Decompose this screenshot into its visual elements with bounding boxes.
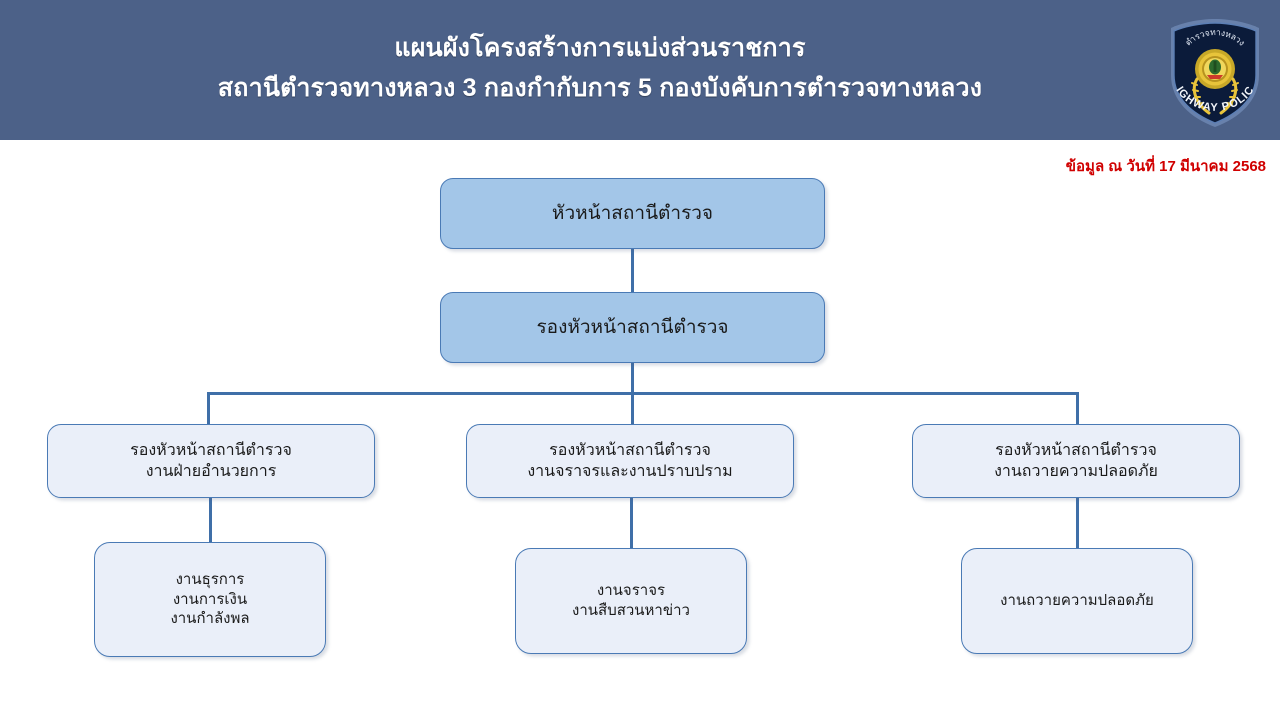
node-deputy-administration-label: รองหัวหน้าสถานีตำรวจ งานฝ่ายอำนวยการ xyxy=(130,440,292,482)
node-deputy-traffic-and-suppression[interactable]: รองหัวหน้าสถานีตำรวจ งานจราจรและงานปราบป… xyxy=(466,424,794,498)
connector-royal-to-tasks xyxy=(1076,498,1079,548)
node-traffic-tasks[interactable]: งานจราจร งานสืบสวนหาข่าว xyxy=(515,548,747,654)
node-chief-of-station-label: หัวหน้าสถานีตำรวจ xyxy=(552,201,713,226)
connector-admin-to-tasks xyxy=(209,498,212,542)
connector-bus-drop-admin xyxy=(207,392,210,424)
node-administration-tasks[interactable]: งานธุรการ งานการเงิน งานกำลังพล xyxy=(94,542,326,657)
node-deputy-royal-security-label: รองหัวหน้าสถานีตำรวจ งานถวายความปลอดภัย xyxy=(994,440,1158,482)
node-deputy-chief-of-station-label: รองหัวหน้าสถานีตำรวจ xyxy=(536,315,728,340)
node-deputy-traffic-and-suppression-label: รองหัวหน้าสถานีตำรวจ งานจราจรและงานปราบป… xyxy=(527,440,732,482)
node-royal-security-tasks-label: งานถวายความปลอดภัย xyxy=(1000,591,1154,611)
connector-chief-to-deputy xyxy=(631,249,634,292)
page-title-line-2: สถานีตำรวจทางหลวง 3 กองกำกับการ 5 กองบัง… xyxy=(60,68,1140,108)
connector-level3-bus xyxy=(207,392,1079,395)
connector-deputy-trunk xyxy=(631,363,634,393)
org-chart-canvas: หัวหน้าสถานีตำรวจ รองหัวหน้าสถานีตำรวจ ร… xyxy=(0,140,1280,720)
connector-bus-drop-royal xyxy=(1076,392,1079,424)
node-deputy-chief-of-station[interactable]: รองหัวหน้าสถานีตำรวจ xyxy=(440,292,825,363)
page-title-line-1: แผนผังโครงสร้างการแบ่งส่วนราชการ xyxy=(60,28,1140,68)
connector-bus-drop-traffic xyxy=(631,392,634,424)
node-administration-tasks-label: งานธุรการ งานการเงิน งานกำลังพล xyxy=(170,570,249,629)
org-chart-page: แผนผังโครงสร้างการแบ่งส่วนราชการ สถานีตำ… xyxy=(0,0,1280,720)
node-traffic-tasks-label: งานจราจร งานสืบสวนหาข่าว xyxy=(572,581,690,621)
node-royal-security-tasks[interactable]: งานถวายความปลอดภัย xyxy=(961,548,1193,654)
highway-police-emblem-icon: ตำรวจทางหลวง HIGHWA xyxy=(1163,17,1267,129)
page-title: แผนผังโครงสร้างการแบ่งส่วนราชการ สถานีตำ… xyxy=(60,28,1140,108)
connector-traffic-to-tasks xyxy=(630,498,633,548)
header-band: แผนผังโครงสร้างการแบ่งส่วนราชการ สถานีตำ… xyxy=(0,0,1280,140)
node-chief-of-station[interactable]: หัวหน้าสถานีตำรวจ xyxy=(440,178,825,249)
node-deputy-administration[interactable]: รองหัวหน้าสถานีตำรวจ งานฝ่ายอำนวยการ xyxy=(47,424,375,498)
node-deputy-royal-security[interactable]: รองหัวหน้าสถานีตำรวจ งานถวายความปลอดภัย xyxy=(912,424,1240,498)
